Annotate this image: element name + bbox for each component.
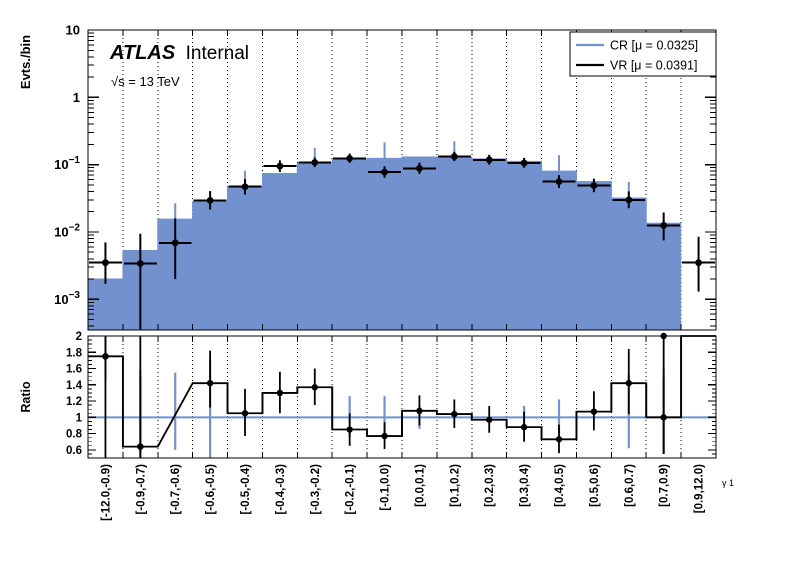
- x-tick-label: [-0.3,-0.2): [310, 464, 322, 515]
- x-tick-label: [0.9,12.0): [694, 464, 706, 513]
- x-tick-label: [0.1,0.2): [449, 464, 461, 507]
- x-tick-label: [-12.0,-0.9): [100, 464, 112, 521]
- y-tick-label: 1: [73, 90, 80, 105]
- ratio-tick-label: 1.8: [66, 347, 83, 359]
- x-tick-label: [-0.9,-0.7): [135, 464, 147, 515]
- x-tick-label: [0.7,0.9): [659, 464, 671, 507]
- x-tick-label: [0.4,0.5): [554, 464, 566, 507]
- x-tick-label: [-0.6,-0.5): [205, 464, 217, 515]
- ratio-tick-label: 1.2: [66, 396, 82, 408]
- corner-note: γ 1: [722, 478, 734, 488]
- y-axis-title-main: Evts./bin: [18, 35, 33, 89]
- x-tick-label: [-0.1,0.0): [380, 464, 392, 511]
- ratio-tick-label: 1: [76, 412, 83, 424]
- x-tick-label: [0.5,0.6): [589, 464, 601, 507]
- ratio-tick-label: 0.8: [66, 429, 83, 441]
- x-tick-label: [-0.2,-0.1): [345, 464, 357, 515]
- x-tick-label: [0.2,0.3): [484, 464, 496, 507]
- legend-label: CR [μ = 0.0325]: [610, 39, 698, 53]
- ratio-tick-label: 2: [76, 331, 82, 343]
- ratio-tick-label: 0.6: [66, 445, 82, 457]
- x-tick-label: [-0.7,-0.6): [170, 464, 182, 515]
- x-tick-label: [0.0,0.1): [414, 464, 426, 507]
- legend-label: VR [μ = 0.0391]: [610, 59, 697, 73]
- plot-canvas: 10110−110−210−3 0.60.811.21.41.61.82 Evt…: [0, 0, 796, 572]
- x-tick-label: [-0.4,-0.3): [275, 464, 287, 515]
- y-axis-title-ratio: Ratio: [19, 381, 33, 413]
- physics-plot-svg: 10110−110−210−3 0.60.811.21.41.61.82 Evt…: [0, 0, 796, 572]
- x-tick-label: [0.3,0.4): [519, 464, 531, 507]
- ratio-tick-label: 1.6: [66, 364, 82, 376]
- ratio-tick-label: 1.4: [66, 380, 83, 392]
- x-tick-label: [-0.5,-0.4): [240, 464, 252, 515]
- y-tick-label: 10: [66, 23, 80, 38]
- x-tick-label: [0.6,0.7): [624, 464, 636, 507]
